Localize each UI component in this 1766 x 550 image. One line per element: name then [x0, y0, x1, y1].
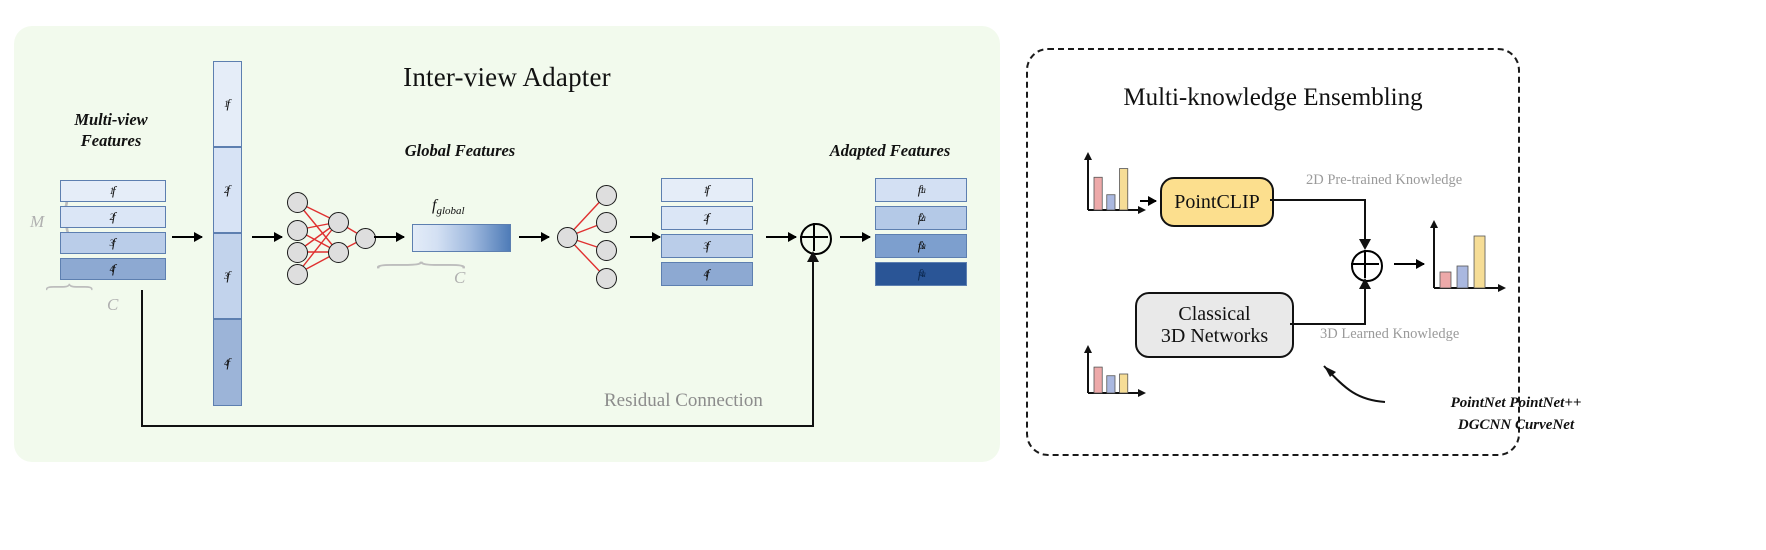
- multiview-feature-row: f4: [60, 258, 166, 280]
- pointclip-arrow-head: [1359, 239, 1371, 250]
- arrow-features-to-sum: [766, 236, 796, 238]
- residual-line-up: [812, 262, 814, 427]
- encoder-node: [287, 242, 308, 263]
- residual-line-vertical: [141, 290, 143, 427]
- multiview-feature-stack: f1f2f3f4: [60, 180, 166, 280]
- f-global-subscript: global: [436, 205, 464, 217]
- 2d-knowledge-label: 2D Pre-trained Knowledge: [1306, 172, 1462, 189]
- adapted-feature-row: fa4: [875, 262, 967, 286]
- pointclip-line-vertical: [1364, 199, 1366, 241]
- chart-bar: [1120, 169, 1128, 210]
- caption-line-2: Features: [36, 131, 186, 152]
- decoder-input-node: [557, 227, 578, 248]
- arrow-mlp-to-global: [374, 236, 404, 238]
- chart-bar: [1107, 195, 1115, 210]
- multiview-features-caption: Multi-view Features: [36, 110, 186, 151]
- decoder-output-node: [596, 185, 617, 206]
- classical-line-2: 3D Networks: [1161, 325, 1268, 347]
- brace-c-global: {: [397, 260, 454, 271]
- ensembling-title: Multi-knowledge Ensembling: [1028, 84, 1518, 112]
- residual-line-horizontal: [141, 425, 814, 427]
- encoder-node: [287, 192, 308, 213]
- network-names-curved-arrow: [1280, 350, 1390, 410]
- label-m: M: [30, 212, 44, 232]
- adapted-feature-stack: fa1fa2fa3fa4: [875, 178, 967, 290]
- global-feature-bar: [412, 224, 511, 252]
- f-global-label: fglobal: [432, 197, 465, 217]
- chart-bar: [1474, 236, 1485, 288]
- adapted-feature-row: fa3: [875, 234, 967, 258]
- classical-line-horizontal: [1290, 323, 1366, 325]
- decoder-output-node: [596, 212, 617, 233]
- label-c: C: [107, 295, 118, 315]
- multiview-feature-row: f3: [60, 232, 166, 254]
- chart-bar: [1094, 177, 1102, 210]
- encoder-output-node: [355, 228, 376, 249]
- chart-bar: [1457, 266, 1468, 288]
- chart-bar: [1107, 376, 1115, 393]
- chart-bar: [1440, 272, 1451, 288]
- pointclip-input-logits-svg: [1078, 152, 1146, 222]
- page-title: Inter-view Adapter: [14, 62, 1000, 93]
- decoder-output-node: [596, 240, 617, 261]
- arrow-concat-to-mlp: [252, 236, 282, 238]
- encoder-hidden-node: [328, 242, 349, 263]
- global-features-caption: Global Features: [380, 141, 540, 162]
- classical-arrow-head: [1359, 278, 1371, 289]
- arrow-sum-to-adapted: [840, 236, 870, 238]
- label-c-global: C: [454, 268, 465, 288]
- decoder-mlp: [556, 184, 622, 290]
- mlp-output-feature-stack: f1f2f3f4: [661, 178, 753, 290]
- arrow-decoder-to-features: [630, 236, 660, 238]
- adapted-feature-row: fa2: [875, 206, 967, 230]
- concat-feature-segment: f4: [213, 319, 242, 406]
- network-names: PointNet PointNet++ DGCNN CurveNet: [1386, 393, 1646, 437]
- encoder-node: [287, 220, 308, 241]
- encoder-node: [287, 264, 308, 285]
- pointclip-box[interactable]: PointCLIP: [1160, 177, 1274, 227]
- classical-3d-networks-box[interactable]: Classical 3D Networks: [1135, 292, 1294, 358]
- multiview-feature-row: f1: [60, 180, 166, 202]
- classical-line-vertical: [1364, 289, 1366, 325]
- arrow-mv-to-concat: [172, 236, 202, 238]
- residual-connection-label: Residual Connection: [604, 390, 763, 412]
- brace-c: {: [56, 282, 86, 292]
- chart-bar: [1094, 367, 1102, 393]
- concat-feature-segment: f2: [213, 147, 242, 233]
- concat-feature-segment: f1: [213, 61, 242, 147]
- classical-line-1: Classical: [1178, 303, 1250, 325]
- concatenated-feature-column: f1f2f3f4: [213, 61, 242, 406]
- pointclip-line-horizontal: [1270, 199, 1366, 201]
- ensembled-output-chart: [1424, 220, 1506, 300]
- mlp-output-feature-row: f1: [661, 178, 753, 202]
- arrow-chart1-to-pointclip: [1140, 200, 1156, 202]
- encoder-mlp: [286, 190, 376, 284]
- mlp-output-feature-row: f2: [661, 206, 753, 230]
- arrow-sum-to-output-chart: [1394, 263, 1424, 265]
- concat-feature-segment: f3: [213, 233, 242, 319]
- mlp-output-feature-row: f3: [661, 234, 753, 258]
- multiview-feature-row: f2: [60, 206, 166, 228]
- mlp-output-feature-row: f4: [661, 262, 753, 286]
- encoder-hidden-node: [328, 212, 349, 233]
- adapted-feature-row: fa1: [875, 178, 967, 202]
- 3d-knowledge-label: 3D Learned Knowledge: [1320, 326, 1459, 343]
- network-names-line-1: PointNet PointNet++: [1386, 393, 1646, 415]
- network-names-line-2: DGCNN CurveNet: [1386, 415, 1646, 437]
- classical3d-input-chart: [1078, 345, 1146, 405]
- arrow-global-to-decoder: [519, 236, 549, 238]
- classical3d-input-logits-svg: [1078, 345, 1146, 405]
- residual-arrow-head: [807, 251, 819, 262]
- pointclip-input-chart: [1078, 152, 1146, 222]
- decoder-output-node: [596, 268, 617, 289]
- chart-bar: [1120, 374, 1128, 393]
- caption-line-1: Multi-view: [36, 110, 186, 131]
- adapted-features-caption: Adapted Features: [800, 141, 980, 162]
- ensembled-output-logits-svg: [1424, 220, 1506, 300]
